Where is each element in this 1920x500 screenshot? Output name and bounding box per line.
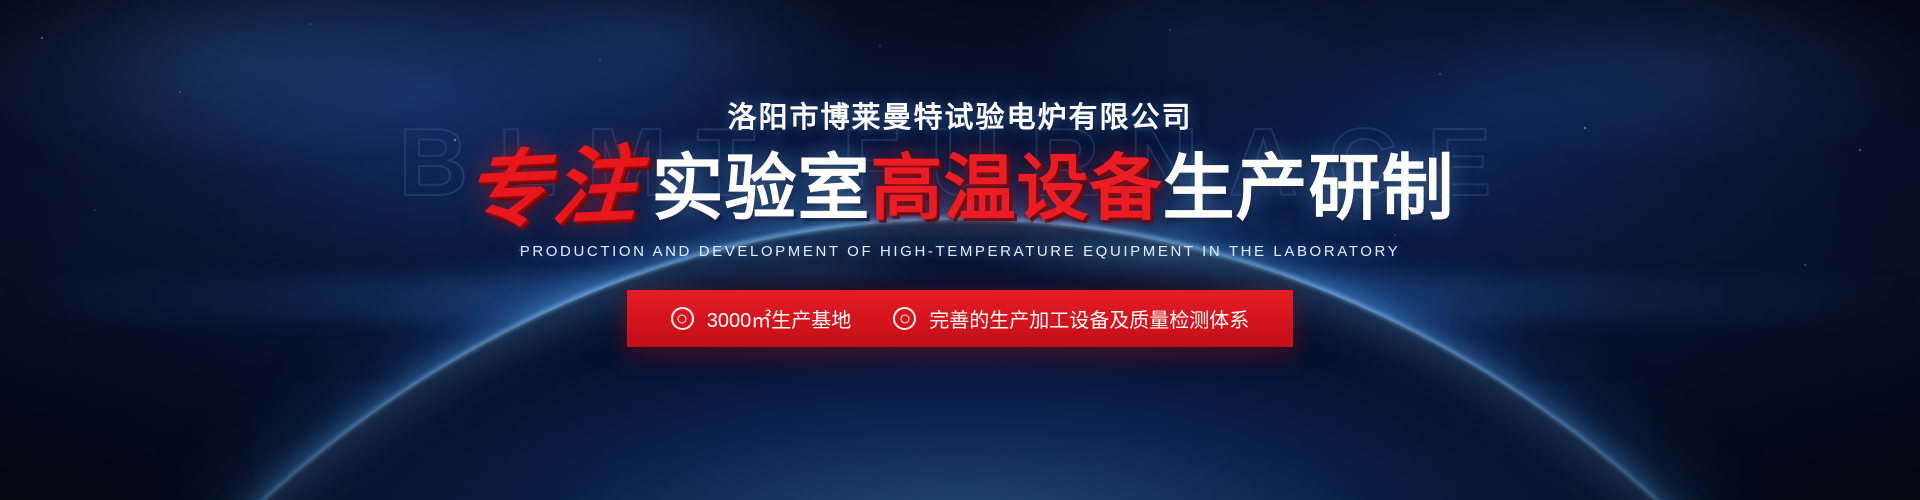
hero-banner: BLMT FURNACE 洛阳市博莱曼特试验电炉有限公司 专注 实验室 高温设备… — [0, 0, 1920, 500]
target-circle-icon — [671, 307, 694, 330]
headline-white-segment-1: 实验室 — [651, 153, 870, 225]
feature-item-quality-system: 完善的生产加工设备及质量检测体系 — [893, 304, 1249, 333]
target-circle-icon — [893, 307, 916, 330]
headline: 专注 实验室 高温设备 生产研制 — [465, 142, 1454, 226]
feature-label: 完善的生产加工设备及质量检测体系 — [929, 304, 1249, 333]
company-name: 洛阳市博莱曼特试验电炉有限公司 — [727, 94, 1192, 136]
banner-content: 洛阳市博莱曼特试验电炉有限公司 专注 实验室 高温设备 生产研制 PRODUCT… — [0, 0, 1920, 500]
headline-white-segment-2: 生产研制 — [1163, 153, 1455, 225]
english-subtitle: PRODUCTION AND DEVELOPMENT OF HIGH-TEMPE… — [520, 243, 1401, 260]
feature-label: 3000㎡生产基地 — [707, 304, 852, 333]
headline-brush-word: 专注 — [462, 142, 645, 234]
feature-item-production-base: 3000㎡生产基地 — [671, 304, 852, 333]
feature-highlight-bar: 3000㎡生产基地 完善的生产加工设备及质量检测体系 — [627, 290, 1294, 347]
headline-red-segment: 高温设备 — [871, 153, 1163, 225]
